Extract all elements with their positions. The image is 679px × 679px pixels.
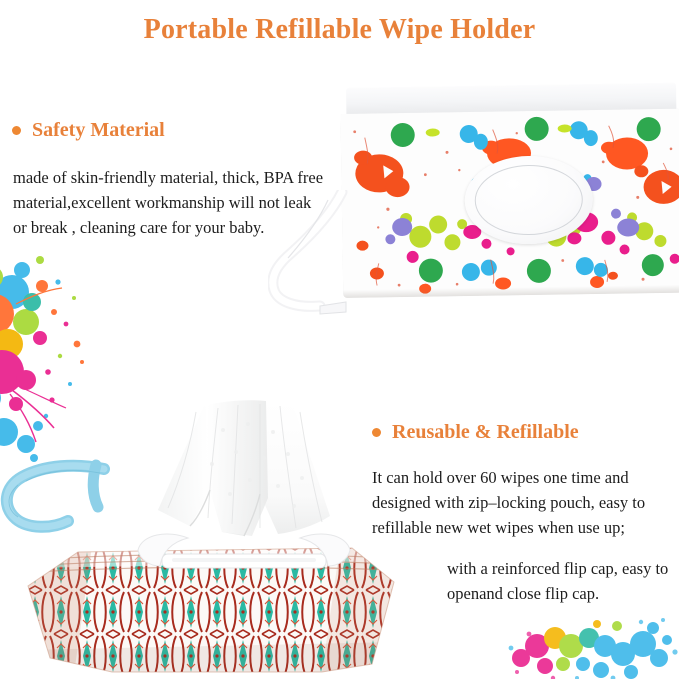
page-title: Portable Refillable Wipe Holder — [0, 14, 679, 46]
pouch-strap-white — [268, 190, 350, 315]
paint-splatter-bottom-right-icon — [497, 612, 679, 679]
feature-heading-reusable: Reusable & Refillable — [372, 421, 579, 444]
flip-cap-open[interactable] — [128, 528, 360, 570]
feature-heading-reusable-label: Reusable & Refillable — [392, 421, 579, 444]
feature-body-reusable: It can hold over 60 wipes one time and d… — [372, 465, 677, 540]
feature-body-flipcap: with a reinforced flip cap, easy to open… — [447, 556, 679, 606]
pouch-body-splatter — [340, 109, 679, 298]
pouch-strap-blue — [0, 455, 118, 545]
product-infographic: Portable Refillable Wipe Holder — [0, 0, 679, 679]
bullet-dot-icon — [12, 126, 21, 135]
product-image-splatter-pouch — [340, 83, 679, 303]
feature-heading-safety: Safety Material — [12, 119, 165, 142]
feature-heading-safety-label: Safety Material — [32, 119, 165, 142]
